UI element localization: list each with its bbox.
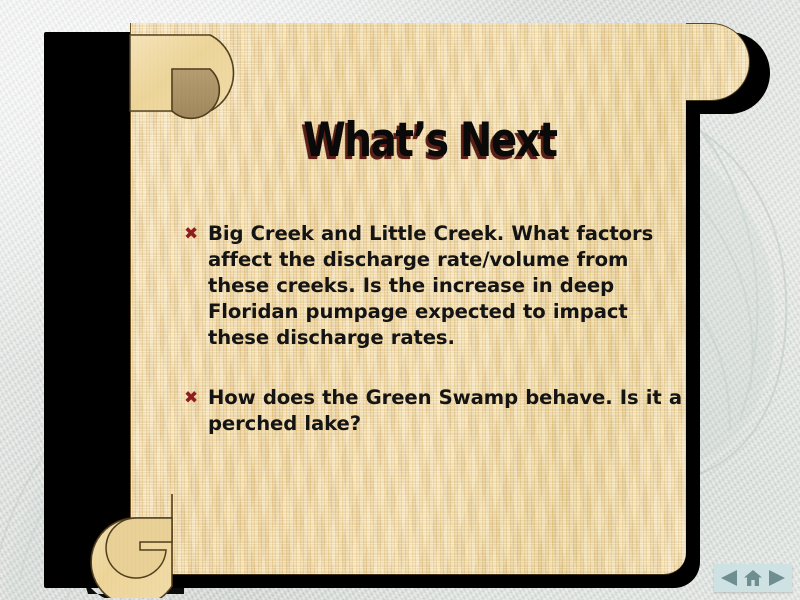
bullet-text: How does the Green Swamp behave. Is it a… xyxy=(208,385,692,437)
page-title: What’s Next xyxy=(209,117,652,164)
bullet-text: Big Creek and Little Creek. What factors… xyxy=(208,221,692,351)
slide-content: What’s Next ✖ Big Creek and Little Creek… xyxy=(160,33,700,575)
home-icon xyxy=(743,569,763,587)
list-item: ✖ How does the Green Swamp behave. Is it… xyxy=(182,385,692,437)
presentation-slide: What’s Next ✖ Big Creek and Little Creek… xyxy=(0,0,800,600)
home-button[interactable] xyxy=(742,567,764,589)
list-item: ✖ Big Creek and Little Creek. What facto… xyxy=(182,221,692,351)
left-triangle-icon xyxy=(719,569,739,587)
next-slide-button[interactable] xyxy=(766,567,788,589)
bullet-marker-icon: ✖ xyxy=(182,221,208,247)
papyrus-scroll: What’s Next ✖ Big Creek and Little Creek… xyxy=(30,10,790,590)
previous-slide-button[interactable] xyxy=(718,567,740,589)
bullet-marker-icon: ✖ xyxy=(182,385,208,411)
bullet-list: ✖ Big Creek and Little Creek. What facto… xyxy=(182,221,692,437)
right-triangle-icon xyxy=(767,569,787,587)
slide-navigation-bar[interactable] xyxy=(714,564,792,592)
